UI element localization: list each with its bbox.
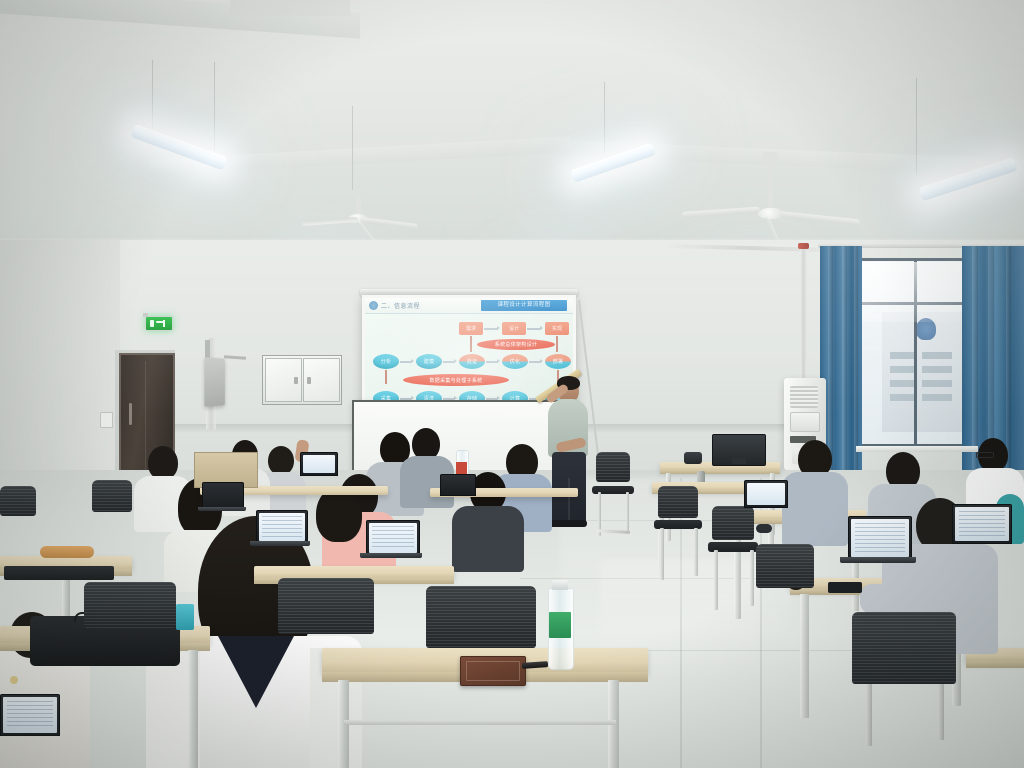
slide-banner-lower: 数据采集与处理子系统 [403, 374, 509, 386]
presenter-shoes [549, 520, 587, 527]
water-bottle-cap [552, 580, 568, 590]
ceiling-fan-mount-2 [762, 152, 778, 162]
empty-chair-2-back[interactable] [658, 486, 698, 518]
laptop-3-screen[interactable] [366, 520, 420, 556]
mouse[interactable] [756, 524, 772, 533]
slide-mid-node-3: 验证 [459, 354, 485, 369]
light-wire-1b [214, 62, 215, 158]
water-bottle-2-label [456, 462, 467, 474]
water-bottle-label [549, 612, 571, 638]
light-switch[interactable] [100, 412, 113, 428]
fire-pipe-collar [798, 243, 809, 249]
exit-sign-bracket [143, 313, 148, 317]
slide-header-title: 二、信息流程 [381, 301, 420, 310]
empty-chair-1-back[interactable] [596, 452, 630, 482]
slide-header-tab: 课程设计计算流程图 [481, 300, 567, 311]
left-wall [0, 240, 120, 500]
cabinet-door-right[interactable] [303, 358, 340, 402]
slide-mid-node-4: 优化 [502, 354, 528, 369]
foreground-chair-3[interactable] [84, 582, 176, 628]
teal-cup[interactable] [176, 604, 194, 630]
ceiling-panel-seam [230, 0, 350, 16]
right-chair-1[interactable] [852, 612, 956, 684]
attendee-foreground-left-pattern [10, 676, 18, 684]
door-handle[interactable] [129, 403, 132, 425]
monitor-stand [732, 458, 746, 464]
desk-equipment [684, 452, 702, 464]
foreground-chair-2[interactable] [278, 578, 374, 634]
ceiling-fan-rod-2 [768, 160, 773, 212]
attendee-14-arm [860, 584, 906, 614]
laptop-6-screen[interactable] [952, 504, 1012, 544]
window-sill [856, 446, 978, 452]
attendee-4-head [268, 446, 294, 475]
empty-chair-3-back[interactable] [712, 506, 754, 540]
light-wire-2 [352, 106, 353, 190]
slide-banner-upper: 系统总体架构设计 [477, 339, 555, 350]
slide-top-box-2: 设计 [502, 322, 526, 335]
laptop-8-screen[interactable] [0, 694, 60, 736]
attendee-15-glasses-icon [976, 452, 994, 458]
laptop-7-screen[interactable] [744, 480, 788, 508]
slide-header: 二、信息流程 课程设计计算流程图 [365, 298, 573, 314]
window[interactable] [858, 258, 976, 448]
laptop-5-screen[interactable] [848, 516, 912, 560]
right-chair-2[interactable] [756, 544, 814, 588]
laptop-4-screen[interactable] [300, 452, 338, 476]
foreground-chair-1[interactable] [426, 586, 536, 648]
presenter-leg-split [568, 478, 570, 524]
light-wire-3 [604, 82, 605, 154]
exit-sign [145, 316, 173, 331]
wall-speaker [204, 357, 224, 407]
slide-logo-icon [369, 301, 378, 310]
laptop-9-screen[interactable] [440, 474, 476, 496]
attendee-12-torso [782, 472, 848, 546]
wall-cabinet[interactable] [262, 355, 342, 405]
slide-mid-node-2: 建模 [416, 354, 442, 369]
slide-mid-node-5: 部署 [545, 354, 571, 369]
cabinet-door-left[interactable] [265, 358, 302, 402]
slide-mid-node-1: 分析 [373, 354, 399, 369]
brown-leather-notebook[interactable] [460, 656, 526, 686]
slide-conn-top-2 [527, 328, 541, 330]
window-glare [862, 262, 972, 322]
classroom-photo: 二、信息流程 课程设计计算流程图 需求 设计 实现 系统总体架构设计 分析 [0, 0, 1024, 768]
light-wire-5 [916, 78, 917, 174]
empty-chair-left-2[interactable] [92, 480, 132, 512]
phone-on-desk[interactable] [828, 582, 862, 593]
slide-top-box-3: 实现 [545, 322, 569, 335]
empty-chair-left-1[interactable] [0, 486, 36, 516]
laptop-2-screen[interactable] [256, 510, 308, 544]
attendee-2-head [148, 446, 178, 480]
slide-conn-top-1 [484, 328, 498, 330]
desk-mat [4, 566, 114, 580]
orange-roll [40, 546, 94, 558]
laptop-1-screen[interactable] [202, 482, 244, 510]
slide-top-box-1: 需求 [459, 322, 483, 335]
attendee-8-torso [452, 506, 524, 572]
